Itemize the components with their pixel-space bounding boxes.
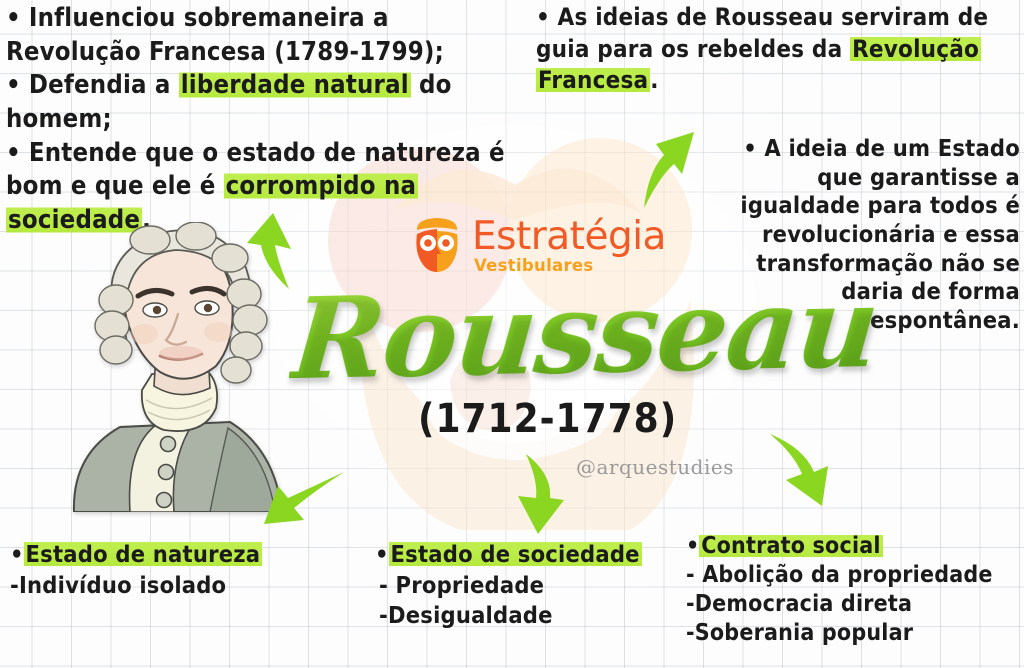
influences-block: • Influenciou sobremaneira a Revolução F… bbox=[6, 2, 506, 238]
estado-de-natureza-block: •Estado de natureza -Indivíduo isolado bbox=[10, 539, 340, 600]
list-item: -Soberania popular bbox=[686, 619, 1021, 648]
contrato-social-block: •Contrato social - Abolição da proprieda… bbox=[686, 532, 1021, 648]
author-handle: @arquestudies bbox=[576, 455, 734, 479]
page-title: Rousseau bbox=[287, 272, 881, 396]
list-item: - Abolição da propriedade bbox=[686, 561, 1021, 590]
bullet-icon: • bbox=[536, 3, 550, 31]
bullet-icon: • bbox=[375, 540, 389, 568]
estado-de-sociedade-block: •Estado de sociedade - Propriedade -Desi… bbox=[375, 539, 675, 631]
bullet-icon: • bbox=[6, 70, 21, 100]
text-segment: . bbox=[650, 66, 658, 94]
list-item: • Defendia a liberdade natural do homem; bbox=[6, 69, 506, 136]
french-revolution-block: • As ideias de Rousseau serviram de guia… bbox=[536, 2, 1018, 97]
bullet-icon: • bbox=[6, 3, 21, 33]
block-heading: •Estado de sociedade bbox=[375, 539, 675, 570]
list-item: • Influenciou sobremaneira a Revolução F… bbox=[6, 2, 506, 69]
arrow-down-left-icon bbox=[258, 462, 348, 530]
list-item: -Democracia direta bbox=[686, 590, 1021, 619]
block-heading: •Estado de natureza bbox=[10, 539, 340, 570]
life-dates: (1712-1778) bbox=[418, 396, 677, 442]
bullet-icon: • bbox=[6, 138, 21, 168]
block-heading: •Contrato social bbox=[686, 532, 1021, 561]
highlighted-text: liberdade natural bbox=[179, 70, 411, 100]
list-item: -Indivíduo isolado bbox=[10, 570, 340, 601]
arrow-up-right-icon bbox=[636, 128, 706, 213]
arrow-down-right-icon bbox=[762, 432, 840, 512]
bullet-icon: • bbox=[743, 134, 757, 162]
heading-text: Estado de sociedade bbox=[389, 540, 642, 568]
list-item: - Propriedade bbox=[375, 570, 675, 601]
logo-name: Estratégia bbox=[472, 217, 666, 256]
bullet-icon: • bbox=[10, 540, 24, 568]
bullet-icon: • bbox=[686, 533, 699, 559]
heading-text: Estado de natureza bbox=[24, 540, 263, 568]
owl-icon bbox=[410, 216, 464, 276]
heading-text: Contrato social bbox=[699, 533, 882, 559]
text-segment: Influenciou sobremaneira a Revolução Fra… bbox=[6, 3, 444, 67]
list-item: -Desigualdade bbox=[375, 600, 675, 631]
mindmap-canvas: • Influenciou sobremaneira a Revolução F… bbox=[0, 0, 1024, 668]
arrow-down-icon bbox=[508, 452, 570, 537]
list-item: • As ideias de Rousseau serviram de guia… bbox=[536, 2, 1018, 97]
text-segment: Defendia a bbox=[29, 70, 179, 100]
